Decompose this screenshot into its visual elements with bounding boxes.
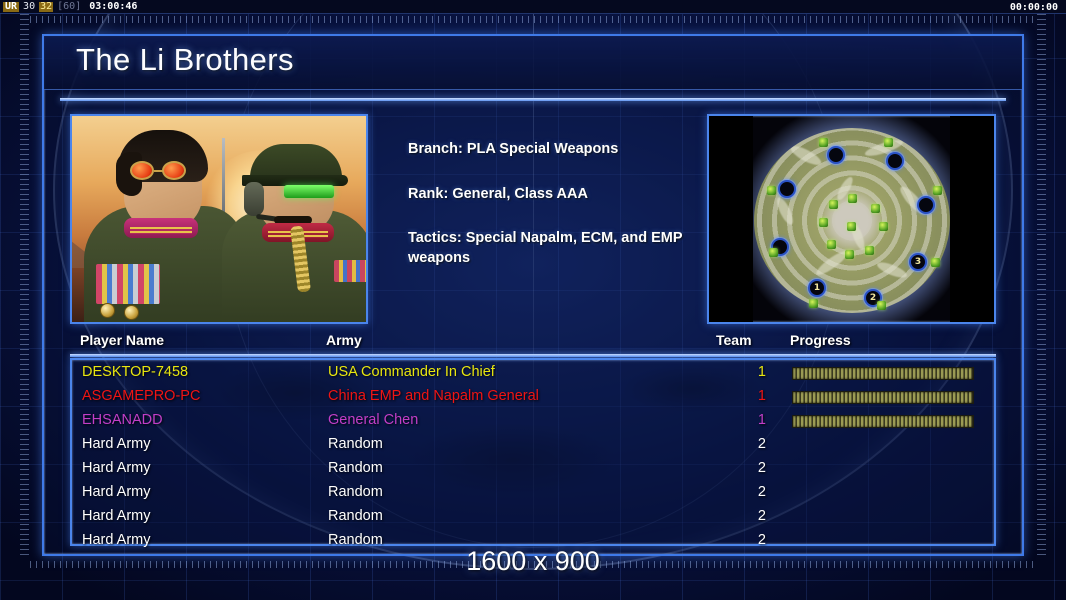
- map-supply-icon: [877, 301, 886, 310]
- progress-bar: [792, 391, 974, 404]
- map-letterbox-right: [950, 116, 994, 322]
- status-value-1: 30: [23, 2, 35, 12]
- army-cell: USA Commander In Chief: [328, 364, 495, 380]
- progress-bar-fill: [792, 367, 974, 380]
- loading-screen-frame: The Li Brothers: [42, 34, 1024, 556]
- table-row: EHSANADDGeneral Chen1: [72, 410, 994, 434]
- army-cell: Random: [328, 436, 383, 452]
- team-cell: 2: [740, 436, 766, 452]
- progress-bar-fill: [792, 415, 974, 428]
- player-name-cell: DESKTOP-7458: [82, 364, 188, 380]
- general-a-glasses-bridge: [154, 170, 164, 172]
- map-supply-icon: [819, 218, 828, 227]
- general-a-medal-2: [124, 305, 139, 320]
- player-name-cell: ASGAMEPRO-PC: [82, 388, 200, 404]
- ruler-top: [30, 16, 1036, 30]
- player-name-cell: Hard Army: [82, 460, 151, 476]
- player-name-cell: EHSANADD: [82, 412, 163, 428]
- map-supply-icon: [884, 138, 893, 147]
- map-terrain: [754, 128, 950, 313]
- progress-bar-fill: [792, 391, 974, 404]
- top-right-clock: 00:00:00: [1010, 0, 1058, 14]
- table-row: Hard ArmyRandom2: [72, 482, 994, 506]
- map-supply-icon: [767, 186, 776, 195]
- map-supply-icon: [819, 138, 828, 147]
- resolution-label: 1600 x 900: [0, 546, 1066, 577]
- progress-bar: [792, 367, 974, 380]
- title-divider: [60, 98, 1006, 101]
- general-portrait: [70, 114, 368, 324]
- team-cell: 1: [740, 364, 766, 380]
- army-cell: General Chen: [328, 412, 418, 428]
- player-name-cell: Hard Army: [82, 484, 151, 500]
- general-a-medal-1: [100, 303, 115, 318]
- general-b-headset: [244, 182, 264, 216]
- title-bar: The Li Brothers: [44, 36, 1022, 90]
- roster-header-player: Player Name: [80, 332, 164, 348]
- map-supply-icon: [865, 246, 874, 255]
- team-cell: 2: [740, 484, 766, 500]
- bio-tactics: Tactics: Special Napalm, ECM, and EMP we…: [408, 229, 707, 268]
- map-start-position: [917, 196, 935, 214]
- table-row: Hard ArmyRandom2: [72, 458, 994, 482]
- map-start-position: [886, 152, 904, 170]
- bio-rank: Rank: General, Class AAA: [408, 185, 707, 205]
- roster-list: DESKTOP-7458USA Commander In Chief1ASGAM…: [70, 358, 996, 546]
- map-supply-icon: [769, 248, 778, 257]
- army-cell: Random: [328, 460, 383, 476]
- roster-header-team: Team: [716, 332, 752, 348]
- army-cell: Random: [328, 508, 383, 524]
- roster-divider: [70, 354, 996, 357]
- player-name-cell: Hard Army: [82, 436, 151, 452]
- status-clock: 03:00:46: [89, 2, 137, 12]
- page-title: The Li Brothers: [76, 42, 294, 78]
- map-start-position: [778, 180, 796, 198]
- map-supply-icon: [809, 299, 818, 308]
- general-a-collar-stripes: [130, 227, 192, 234]
- general-info-row: Branch: PLA Special Weapons Rank: Genera…: [70, 114, 996, 324]
- table-row: Hard ArmyRandom2: [72, 434, 994, 458]
- map-start-position: [827, 146, 845, 164]
- map-supply-icon: [931, 258, 940, 267]
- general-a-glasses-left: [130, 161, 154, 180]
- team-cell: 2: [740, 460, 766, 476]
- map-letterbox-left: [709, 116, 753, 322]
- table-row: DESKTOP-7458USA Commander In Chief1: [72, 362, 994, 386]
- ruler-right: [1024, 14, 1046, 558]
- table-row: Hard ArmyRandom2: [72, 506, 994, 530]
- status-value-2: 32: [39, 2, 53, 12]
- general-a-glasses-right: [162, 161, 186, 180]
- roster-header-army: Army: [326, 332, 362, 348]
- map-supply-icon: [827, 240, 836, 249]
- general-b-medal-ribbons: [334, 260, 368, 282]
- roster-header: Player Name Army Team Progress: [70, 332, 996, 354]
- portrait-antenna: [222, 138, 225, 212]
- team-cell: 1: [740, 388, 766, 404]
- general-a-medal-ribbons: [96, 264, 160, 304]
- map-supply-icon: [829, 200, 838, 209]
- player-name-cell: Hard Army: [82, 508, 151, 524]
- general-bio: Branch: PLA Special Weapons Rank: Genera…: [368, 114, 707, 324]
- map-start-position-1: 1: [808, 279, 826, 297]
- status-value-3: [60]: [57, 2, 81, 12]
- team-cell: 2: [740, 508, 766, 524]
- map-supply-icon: [871, 204, 880, 213]
- status-tag: UR: [3, 2, 19, 12]
- roster-header-progress: Progress: [790, 332, 851, 348]
- top-status-bar: UR 30 32 [60] 03:00:46: [0, 0, 1066, 14]
- map-supply-icon: [879, 222, 888, 231]
- general-b-visor: [284, 185, 334, 198]
- progress-bar: [792, 415, 974, 428]
- ruler-left: [20, 14, 42, 558]
- team-cell: 1: [740, 412, 766, 428]
- table-row: ASGAMEPRO-PCChina EMP and Napalm General…: [72, 386, 994, 410]
- map-supply-icon: [848, 194, 857, 203]
- bio-branch: Branch: PLA Special Weapons: [408, 140, 707, 160]
- top-right-clock-value: 00:00:00: [1010, 2, 1058, 13]
- map-supply-icon: [933, 186, 942, 195]
- map-preview: 3 1 2: [707, 114, 996, 324]
- map-supply-icon: [847, 222, 856, 231]
- map-start-position-3: 3: [909, 253, 927, 271]
- army-cell: Random: [328, 484, 383, 500]
- map-supply-icon: [845, 250, 854, 259]
- army-cell: China EMP and Napalm General: [328, 388, 539, 404]
